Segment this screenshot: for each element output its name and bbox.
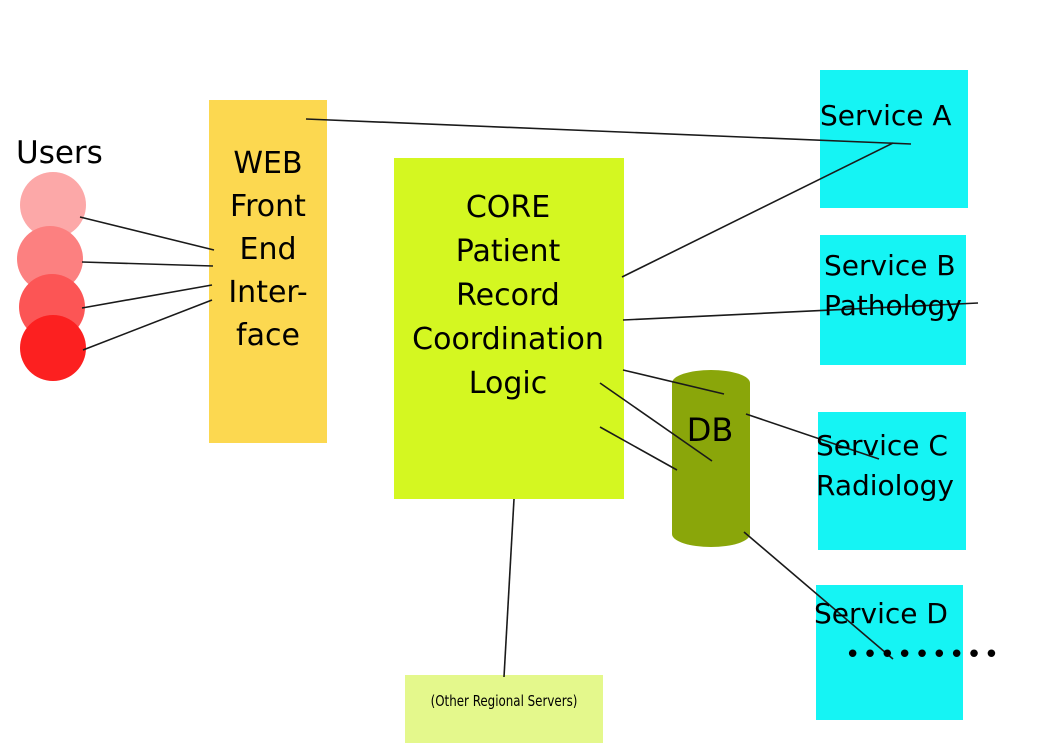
core-box[interactable] — [394, 158, 624, 499]
service-c-box[interactable] — [818, 412, 966, 550]
other-regional-servers-box[interactable] — [405, 675, 603, 743]
connector-user1-web — [80, 217, 214, 250]
architecture-diagram: Users WEB Front End Inter- face CORE Pat… — [0, 0, 1053, 745]
shapes-layer — [0, 0, 1053, 745]
user-circle-4[interactable] — [20, 315, 86, 381]
users-label: Users — [16, 135, 103, 171]
service-a-box[interactable] — [820, 70, 968, 208]
service-d-dots: ••••••••• — [845, 640, 1001, 670]
connector-user4-web — [83, 300, 212, 350]
connector-core-regional — [504, 499, 514, 677]
database-cylinder[interactable] — [672, 370, 750, 547]
web-front-end-box[interactable] — [209, 100, 327, 443]
connector-user2-web — [82, 262, 213, 266]
service-b-box[interactable] — [820, 235, 966, 365]
connector-user3-web — [82, 285, 212, 308]
